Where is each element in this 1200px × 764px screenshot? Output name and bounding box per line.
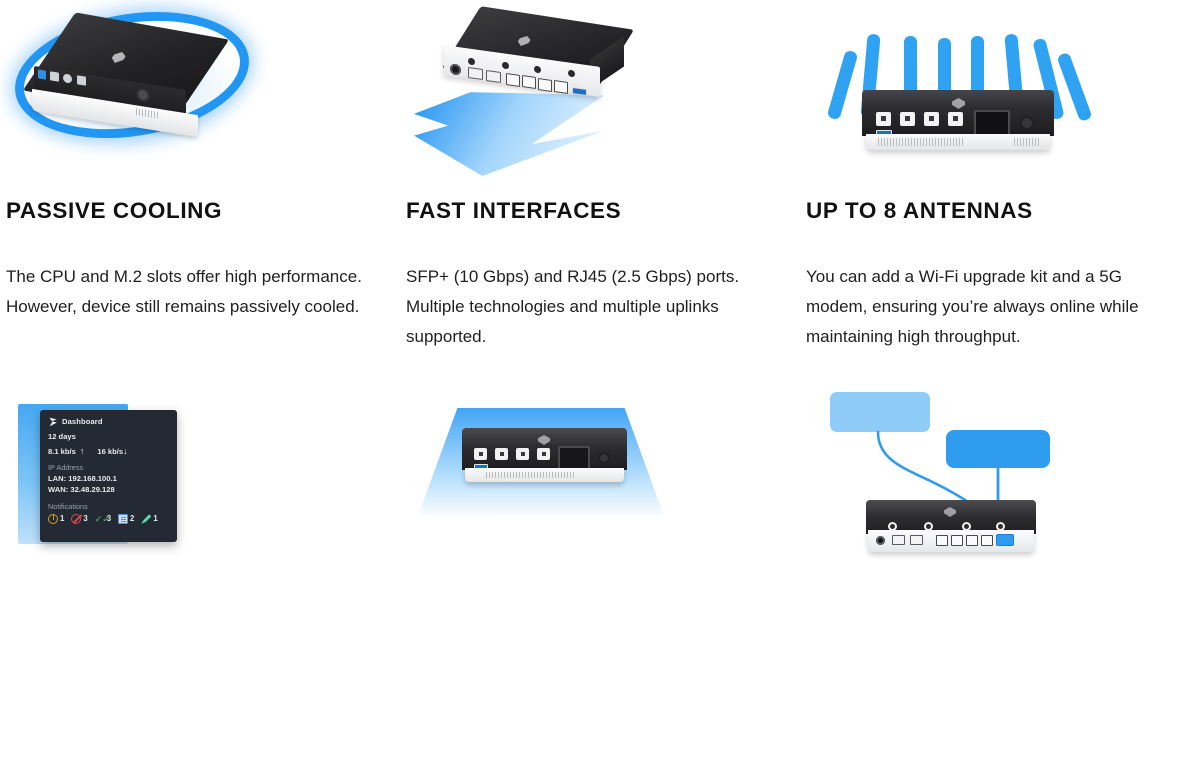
rj45-port-icon xyxy=(951,535,963,546)
feature-image-passive-cooling xyxy=(6,0,392,185)
upload-arrow-icon: ↑ xyxy=(80,447,85,456)
feature-title: PASSIVE COOLING xyxy=(6,200,222,223)
router-front-illustration xyxy=(462,428,627,508)
blocked-count: 3 xyxy=(83,515,87,523)
feature-image-antennas xyxy=(806,0,1192,185)
sfp-port-icon xyxy=(910,535,923,545)
feature-image-extensible xyxy=(806,382,1192,567)
file-count: 2 xyxy=(130,515,134,523)
upload-rate: 8.1 kb/s xyxy=(48,448,76,456)
feature-image-color-display: Dashboard 12 days 8.1 kb/s ↑ 16 kb/s ↓ I… xyxy=(6,382,392,567)
feature-body: You can add a Wi-Fi upgrade kit and a 5G… xyxy=(806,262,1186,352)
blocked-icon xyxy=(71,514,81,524)
check-icon: ✓✓ xyxy=(95,514,105,524)
router-rear-illustration xyxy=(440,18,640,118)
feature-card-fast-interfaces: FAST INTERFACES SFP+ (10 Gbps) and RJ45 … xyxy=(400,0,800,382)
rj45-port-icon xyxy=(966,535,978,546)
feature-body: SFP+ (10 Gbps) and RJ45 (2.5 Gbps) ports… xyxy=(406,262,786,352)
m2-slot-icon xyxy=(996,534,1014,546)
wan-address: WAN: 32.48.29.128 xyxy=(48,486,169,494)
notifications-label: Notifications xyxy=(48,503,169,511)
feature-card-rack-mount: RACK-MOUNT READY The smart, modular desi… xyxy=(400,382,800,764)
ip-address-label: IP Address xyxy=(48,464,169,472)
router-front-illustration xyxy=(862,90,1054,156)
pencil-count: 1 xyxy=(153,515,157,523)
feature-title: UP TO 8 ANTENNAS xyxy=(806,200,1033,223)
power-icon xyxy=(48,514,58,524)
control-knob xyxy=(598,452,610,464)
pencil-icon xyxy=(141,514,151,524)
control-knob xyxy=(1020,116,1034,130)
sfp-port-icon xyxy=(892,535,905,545)
rj45-port-icon xyxy=(981,535,993,546)
router-rear-illustration xyxy=(866,500,1036,562)
file-icon xyxy=(118,514,128,524)
power-count: 1 xyxy=(60,515,64,523)
download-rate: 16 kb/s xyxy=(97,448,123,456)
rj45-port-icon xyxy=(936,535,948,546)
feature-image-fast-interfaces xyxy=(406,0,792,185)
feature-card-passive-cooling: PASSIVE COOLING The CPU and M.2 slots of… xyxy=(0,0,400,382)
feature-image-rack-mount xyxy=(406,382,792,567)
feature-card-antennas: UP TO 8 ANTENNAS You can add a Wi-Fi upg… xyxy=(800,0,1200,382)
brand-logo-icon xyxy=(48,417,58,427)
power-port-icon xyxy=(876,536,885,545)
notifications-row: 1 3 ✓✓ 3 2 1 xyxy=(48,514,169,524)
feature-title: FAST INTERFACES xyxy=(406,200,621,223)
download-arrow-icon: ↓ xyxy=(123,447,128,456)
uptime-value: 12 days xyxy=(48,433,169,441)
dashboard-title: Dashboard xyxy=(62,418,103,426)
feature-card-extensible: EXTENSIBLE Three M.2 slots and two USB 3… xyxy=(800,382,1200,764)
router-isometric-illustration xyxy=(32,26,228,138)
lan-address: LAN: 192.168.100.1 xyxy=(48,475,169,483)
antenna-icon xyxy=(827,50,859,121)
device-dashboard-screen: Dashboard 12 days 8.1 kb/s ↑ 16 kb/s ↓ I… xyxy=(40,410,177,542)
feature-card-color-display: Dashboard 12 days 8.1 kb/s ↑ 16 kb/s ↓ I… xyxy=(0,382,400,764)
feature-grid: PASSIVE COOLING The CPU and M.2 slots of… xyxy=(0,0,1200,764)
feature-body: The CPU and M.2 slots offer high perform… xyxy=(6,262,386,322)
